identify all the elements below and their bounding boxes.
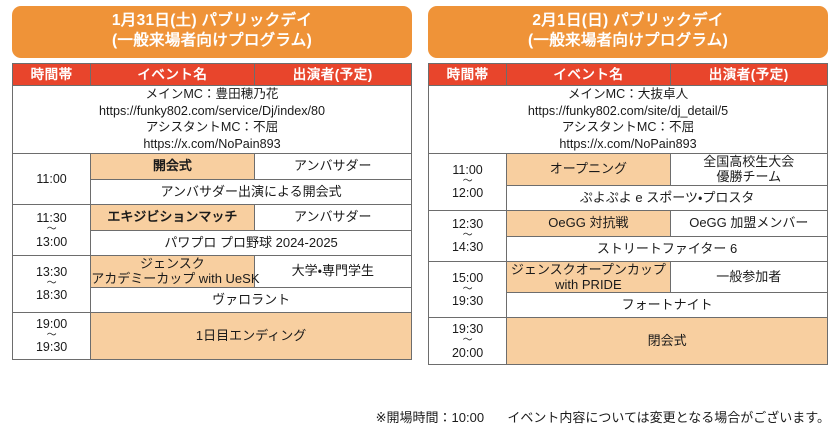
mc-info-cell: メインMC：大抜卓人 https://funky802.com/site/dj_… <box>429 85 828 153</box>
event-name-cell: ジェンスクオープンカップ with PRIDE <box>507 261 670 293</box>
table-row: 13:30 〜 18:30 ジェンスク アカデミーカップ with UeSK 大… <box>13 255 412 287</box>
column-header-event: イベント名 <box>507 63 670 85</box>
footnote: ※開場時間：10:00 イベント内容については変更となる場合がございます。 <box>376 407 830 426</box>
cast-cell: アンバサダー <box>254 153 411 179</box>
cast-cell: 一般参加者 <box>670 261 827 293</box>
time-start: 11:30 <box>13 211 90 225</box>
day-title-line2: (一般来場者向けプログラム) <box>16 31 408 51</box>
time-end: 19:30 <box>13 340 90 354</box>
column-header-cast: 出演者(予定) <box>670 63 827 85</box>
table-row: 19:00 〜 19:30 1日目エンディング <box>13 312 412 359</box>
time-slot-cell: 19:00 〜 19:30 <box>13 312 91 359</box>
cast-cell: 全国高校生大会 優勝チーム <box>670 153 827 185</box>
day-block-feb1: 2月1日(日) パブリックデイ (一般来場者向けプログラム) 時間帯 イベント名… <box>428 6 828 365</box>
schedule-table-jan31: 時間帯 イベント名 出演者(予定) メインMC：豊田穂乃花 https://fu… <box>12 63 412 360</box>
cast-cell: 大学・専門学生 <box>254 255 411 287</box>
event-name-cell: ジェンスク アカデミーカップ with UeSK <box>91 255 254 287</box>
event-name-line2: with PRIDE <box>507 277 669 292</box>
table-header-row: 時間帯 イベント名 出演者(予定) <box>13 63 412 85</box>
time-slot-cell: 13:30 〜 18:30 <box>13 255 91 312</box>
time-start: 11:00 <box>429 163 506 177</box>
time-separator: 〜 <box>13 225 90 235</box>
event-detail-cell: フォートナイト <box>507 293 828 318</box>
cast-line1: 全国高校生大会 <box>671 154 827 169</box>
time-slot-cell: 19:30 〜 20:00 <box>429 318 507 365</box>
event-name-cell: エキジビションマッチ <box>91 204 254 230</box>
table-header-row: 時間帯 イベント名 出演者(予定) <box>429 63 828 85</box>
time-start: 19:00 <box>13 317 90 331</box>
cast-line2: 優勝チーム <box>671 169 827 184</box>
day-block-jan31: 1月31日(土) パブリックデイ (一般来場者向けプログラム) 時間帯 イベント… <box>12 6 412 360</box>
time-end: 20:00 <box>429 346 506 360</box>
time-separator: 〜 <box>429 177 506 187</box>
event-detail-cell: ストリートファイター 6 <box>507 236 828 261</box>
time-end: 18:30 <box>13 288 90 302</box>
event-name-cell: 1日目エンディング <box>91 312 412 359</box>
event-detail-cell: パワプロ プロ野球 2024-2025 <box>91 230 412 255</box>
mc-info-row: メインMC：豊田穂乃花 https://funky802.com/service… <box>13 85 412 153</box>
main-mc-url[interactable]: https://funky802.com/site/dj_detail/5 <box>429 103 827 120</box>
time-separator: 〜 <box>13 279 90 289</box>
assistant-mc-url[interactable]: https://x.com/NoPain893 <box>13 136 411 153</box>
event-name-cell: 閉会式 <box>507 318 828 365</box>
mc-info-cell: メインMC：豊田穂乃花 https://funky802.com/service… <box>13 85 412 153</box>
time-slot-cell: 15:00 〜 19:30 <box>429 261 507 318</box>
main-mc-url[interactable]: https://funky802.com/service/Dj/index/80 <box>13 103 411 120</box>
day-title-feb1: 2月1日(日) パブリックデイ (一般来場者向けプログラム) <box>428 6 828 58</box>
event-name-cell: OeGG 対抗戦 <box>507 210 670 236</box>
time-slot-cell: 11:00 〜 12:00 <box>429 153 507 210</box>
main-mc-name: メインMC：大抜卓人 <box>429 86 827 103</box>
assistant-mc-name: アシスタントMC：不屈 <box>429 119 827 136</box>
time-start: 12:30 <box>429 217 506 231</box>
day-title-line2: (一般来場者向けプログラム) <box>432 31 824 51</box>
assistant-mc-url[interactable]: https://x.com/NoPain893 <box>429 136 827 153</box>
time-start: 11:00 <box>13 172 90 186</box>
time-separator: 〜 <box>429 336 506 346</box>
time-end: 13:00 <box>13 235 90 249</box>
time-end: 19:30 <box>429 294 506 308</box>
time-end: 14:30 <box>429 240 506 254</box>
event-detail-cell: ヴァロラント <box>91 287 412 312</box>
column-header-event: イベント名 <box>91 63 254 85</box>
assistant-mc-name: アシスタントMC：不屈 <box>13 119 411 136</box>
time-end: 12:00 <box>429 186 506 200</box>
table-row: 15:00 〜 19:30 ジェンスクオープンカップ with PRIDE 一般… <box>429 261 828 293</box>
event-name-line1: ジェンスクオープンカップ <box>507 262 669 277</box>
time-slot-cell: 11:00 <box>13 153 91 204</box>
day-title-line1: 1月31日(土) パブリックデイ <box>16 11 408 31</box>
time-separator: 〜 <box>429 285 506 295</box>
table-row: 19:30 〜 20:00 閉会式 <box>429 318 828 365</box>
time-start: 19:30 <box>429 322 506 336</box>
mc-info-row: メインMC：大抜卓人 https://funky802.com/site/dj_… <box>429 85 828 153</box>
cast-cell: OeGG 加盟メンバー <box>670 210 827 236</box>
table-row: 11:00 〜 12:00 オープニング 全国高校生大会 優勝チーム <box>429 153 828 185</box>
column-header-time: 時間帯 <box>13 63 91 85</box>
time-slot-cell: 11:30 〜 13:00 <box>13 204 91 255</box>
cast-cell: アンバサダー <box>254 204 411 230</box>
table-row: 11:00 開会式 アンバサダー <box>13 153 412 179</box>
day-title-jan31: 1月31日(土) パブリックデイ (一般来場者向けプログラム) <box>12 6 412 58</box>
event-name-cell: 開会式 <box>91 153 254 179</box>
table-row: 12:30 〜 14:30 OeGG 対抗戦 OeGG 加盟メンバー <box>429 210 828 236</box>
time-separator: 〜 <box>13 331 90 341</box>
table-row: 11:30 〜 13:00 エキジビションマッチ アンバサダー <box>13 204 412 230</box>
footnote-notice: イベント内容については変更となる場合がございます。 <box>507 410 830 425</box>
event-detail-cell: アンバサダー出演による開会式 <box>91 179 412 204</box>
schedule-page: 1月31日(土) パブリックデイ (一般来場者向けプログラム) 時間帯 イベント… <box>0 0 840 433</box>
column-header-time: 時間帯 <box>429 63 507 85</box>
time-slot-cell: 12:30 〜 14:30 <box>429 210 507 261</box>
footnote-open-time: ※開場時間：10:00 <box>376 410 484 425</box>
event-detail-cell: ぷよぷよ e スポーツ・プロスタ <box>507 185 828 210</box>
column-header-cast: 出演者(予定) <box>254 63 411 85</box>
schedule-table-feb1: 時間帯 イベント名 出演者(予定) メインMC：大抜卓人 https://fun… <box>428 63 828 365</box>
event-name-line2: アカデミーカップ with UeSK <box>91 271 253 286</box>
event-name-line1: ジェンスク <box>91 256 253 271</box>
time-start: 13:30 <box>13 265 90 279</box>
main-mc-name: メインMC：豊田穂乃花 <box>13 86 411 103</box>
day-title-line1: 2月1日(日) パブリックデイ <box>432 11 824 31</box>
event-name-cell: オープニング <box>507 153 670 185</box>
time-separator: 〜 <box>429 231 506 241</box>
time-start: 15:00 <box>429 271 506 285</box>
